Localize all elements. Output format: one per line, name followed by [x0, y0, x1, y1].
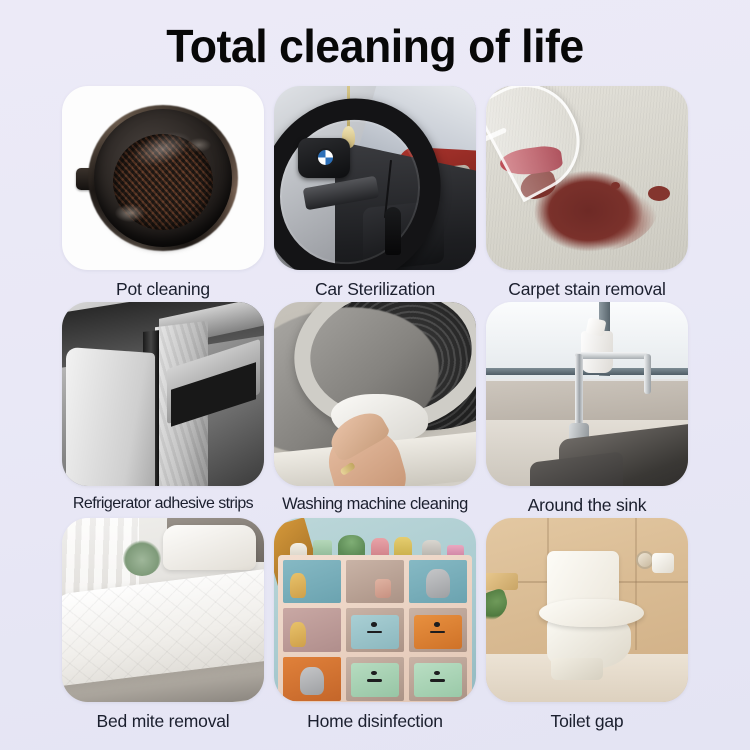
toy-plush: [300, 667, 323, 696]
grid-cell-bed-mite-removal[interactable]: Bed mite removal: [62, 518, 264, 732]
poster-root: Total cleaning of life Pot cleaning: [0, 0, 750, 750]
fridge-door-panel: [66, 347, 155, 486]
grid-cell-around-the-sink[interactable]: Around the sink: [486, 302, 688, 516]
caption-bed-mite-removal: Bed mite removal: [97, 711, 230, 732]
scene-washer-drum: [274, 302, 476, 486]
thumbnail-pot-cleaning: [62, 86, 264, 270]
bedside-plant: [123, 540, 161, 576]
thumbnail-bed-mite-removal: [62, 518, 264, 702]
pan-burn-mark-2: [187, 138, 211, 152]
cubby-7: [283, 657, 341, 701]
cubby-9: [409, 657, 467, 701]
thumbnail-toilet-gap: [486, 518, 688, 702]
finger-ring: [339, 462, 355, 476]
scene-kitchen-sink: [486, 302, 688, 486]
cubby-6: [409, 608, 467, 652]
grid-cell-home-disinfection[interactable]: Home disinfection: [274, 518, 476, 732]
pan-burn-mark-1: [115, 204, 145, 222]
grid-cell-washing-machine-cleaning[interactable]: Washing machine cleaning: [274, 302, 476, 516]
storage-bin-orange: [414, 615, 463, 649]
page-title: Total cleaning of life: [11, 0, 739, 70]
toy-box: [375, 579, 391, 598]
cubby-shelf-unit: [278, 555, 472, 702]
storage-bin-blue: [351, 615, 400, 649]
scene-burnt-pan: [62, 86, 264, 270]
grid-cell-pot-cleaning[interactable]: Pot cleaning: [62, 86, 264, 300]
thumbnail-carpet-stain-removal: [486, 86, 688, 270]
grid-cell-carpet-stain-removal[interactable]: Carpet stain removal: [486, 86, 688, 300]
cubby-2: [346, 560, 404, 604]
car-bmw-badge-icon: [316, 148, 335, 167]
caption-home-disinfection: Home disinfection: [307, 711, 443, 732]
cubby-4: [283, 608, 341, 652]
cubby-1: [283, 560, 341, 604]
feature-grid: Pot cleaning C: [62, 86, 688, 732]
grid-cell-car-sterilization[interactable]: Car Sterilization: [274, 86, 476, 300]
storage-bin-green: [414, 663, 463, 697]
tile-grout-line-v2: [635, 518, 637, 650]
caption-car-sterilization: Car Sterilization: [315, 279, 435, 300]
scene-wine-spill: [486, 86, 688, 270]
car-gear-shifter: [385, 207, 401, 255]
toilet-base-foot: [551, 658, 604, 680]
thumbnail-washing-machine-cleaning: [274, 302, 476, 486]
faucet-arm: [575, 352, 648, 359]
thumbnail-refrigerator-adhesive-strips: [62, 302, 264, 486]
toilet-paper-roll: [652, 553, 674, 573]
grid-cell-toilet-gap[interactable]: Toilet gap: [486, 518, 688, 732]
scene-bed-mattress: [62, 518, 264, 702]
caption-around-the-sink: Around the sink: [528, 495, 647, 516]
towel-bar: [486, 573, 518, 590]
faucet-spout: [644, 354, 651, 394]
thumbnail-car-sterilization: [274, 86, 476, 270]
toilet-seat-lid: [539, 599, 644, 627]
grid-cell-refrigerator-adhesive-strips[interactable]: Refrigerator adhesive strips: [62, 302, 264, 516]
scene-fridge-door-seal: [62, 302, 264, 486]
toy-bottle: [290, 622, 306, 647]
plant-leaf: [486, 587, 511, 624]
caption-toilet-gap: Toilet gap: [551, 711, 624, 732]
storage-bin-mint: [351, 663, 400, 697]
caption-refrigerator-adhesive-strips: Refrigerator adhesive strips: [73, 495, 253, 513]
cubby-8: [346, 657, 404, 701]
cubby-3: [409, 560, 467, 604]
scene-bathroom-toilet: [486, 518, 688, 702]
wine-stain-speck: [611, 182, 620, 189]
toy-cat: [426, 569, 449, 598]
scene-car-interior: [274, 86, 476, 270]
caption-carpet-stain-removal: Carpet stain removal: [508, 279, 665, 300]
caption-washing-machine-cleaning: Washing machine cleaning: [282, 495, 468, 514]
thumbnail-home-disinfection: [274, 518, 476, 702]
caption-pot-cleaning: Pot cleaning: [116, 279, 210, 300]
scene-toy-shelf: [274, 518, 476, 702]
bed-pillow: [163, 525, 256, 569]
thumbnail-around-the-sink: [486, 302, 688, 486]
cubby-5: [346, 608, 404, 652]
toy-bear: [290, 573, 306, 598]
toilet-paper-assembly: [636, 551, 672, 575]
